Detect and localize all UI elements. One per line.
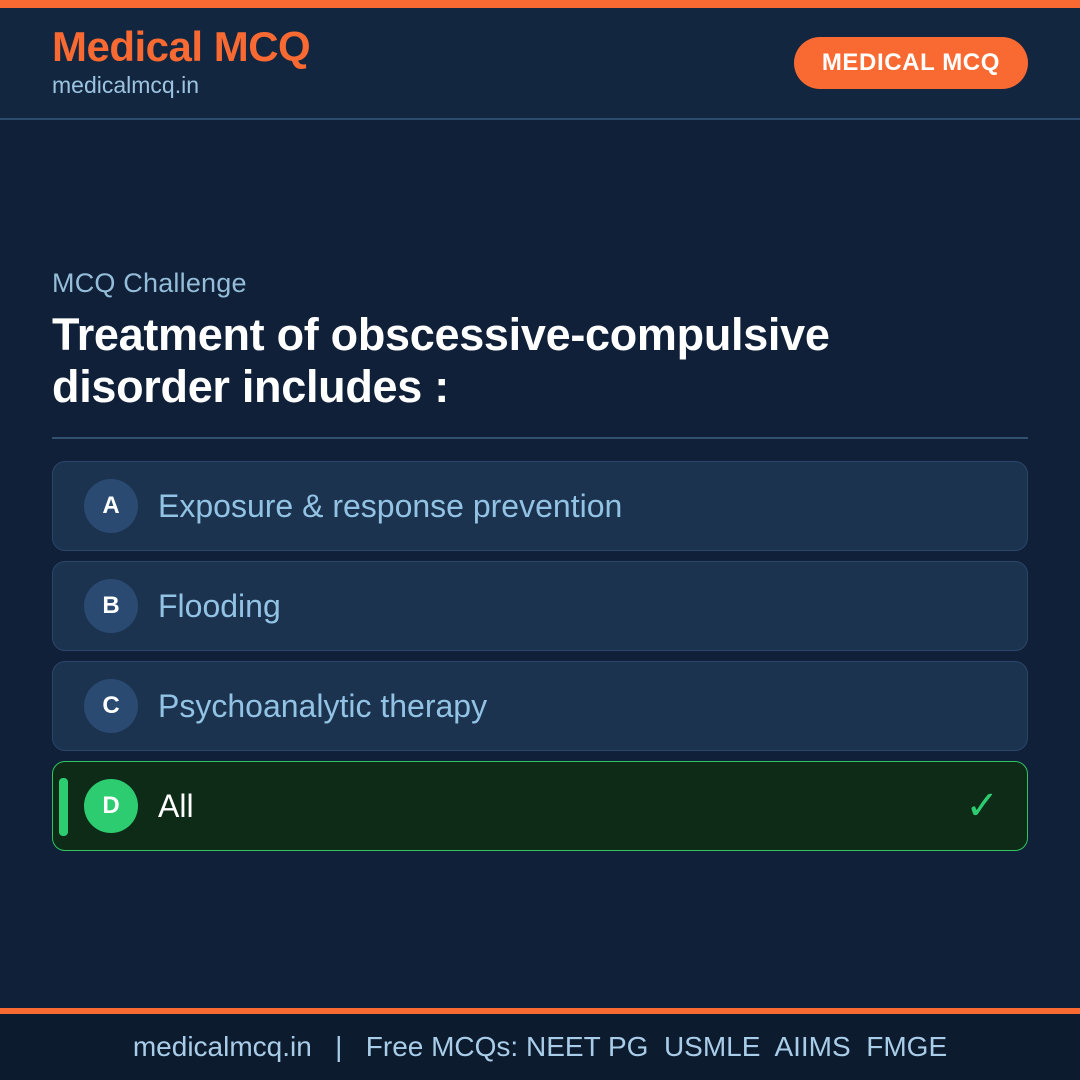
header: Medical MCQ medicalmcq.in MEDICAL MCQ xyxy=(0,8,1080,120)
option-b[interactable]: B Flooding xyxy=(52,561,1028,651)
option-text: Psychoanalytic therapy xyxy=(158,689,487,724)
question-text: Treatment of obscessive-compulsive disor… xyxy=(52,309,992,413)
question-label: MCQ Challenge xyxy=(52,268,1028,299)
option-letter-badge: B xyxy=(84,579,138,633)
footer-wrapper: medicalmcq.in | Free MCQs: NEET PG USMLE… xyxy=(0,1008,1080,1080)
mcq-card: Medical MCQ medicalmcq.in MEDICAL MCQ MC… xyxy=(0,0,1080,1080)
option-c[interactable]: C Psychoanalytic therapy xyxy=(52,661,1028,751)
question-block: MCQ Challenge Treatment of obscessive-co… xyxy=(52,268,1028,439)
footer: medicalmcq.in | Free MCQs: NEET PG USMLE… xyxy=(0,1014,1080,1080)
option-letter-badge: C xyxy=(84,679,138,733)
option-text: All xyxy=(158,789,194,824)
option-d-correct[interactable]: D All ✓ xyxy=(52,761,1028,851)
brand-title: Medical MCQ xyxy=(52,25,310,70)
option-text: Exposure & response prevention xyxy=(158,489,622,524)
options-list: A Exposure & response prevention B Flood… xyxy=(52,461,1028,851)
footer-text: medicalmcq.in | Free MCQs: NEET PG USMLE… xyxy=(133,1031,947,1063)
question-divider xyxy=(52,437,1028,439)
option-a[interactable]: A Exposure & response prevention xyxy=(52,461,1028,551)
option-letter-badge: A xyxy=(84,479,138,533)
main-content: MCQ Challenge Treatment of obscessive-co… xyxy=(0,120,1080,1008)
option-letter-badge: D xyxy=(84,779,138,833)
top-accent-bar xyxy=(0,0,1080,8)
correct-accent-bar xyxy=(59,778,68,836)
brand-block: Medical MCQ medicalmcq.in xyxy=(52,25,310,101)
checkmark-icon: ✓ xyxy=(965,786,999,826)
header-badge: MEDICAL MCQ xyxy=(794,37,1028,89)
brand-domain: medicalmcq.in xyxy=(52,71,310,101)
option-text: Flooding xyxy=(158,589,281,624)
